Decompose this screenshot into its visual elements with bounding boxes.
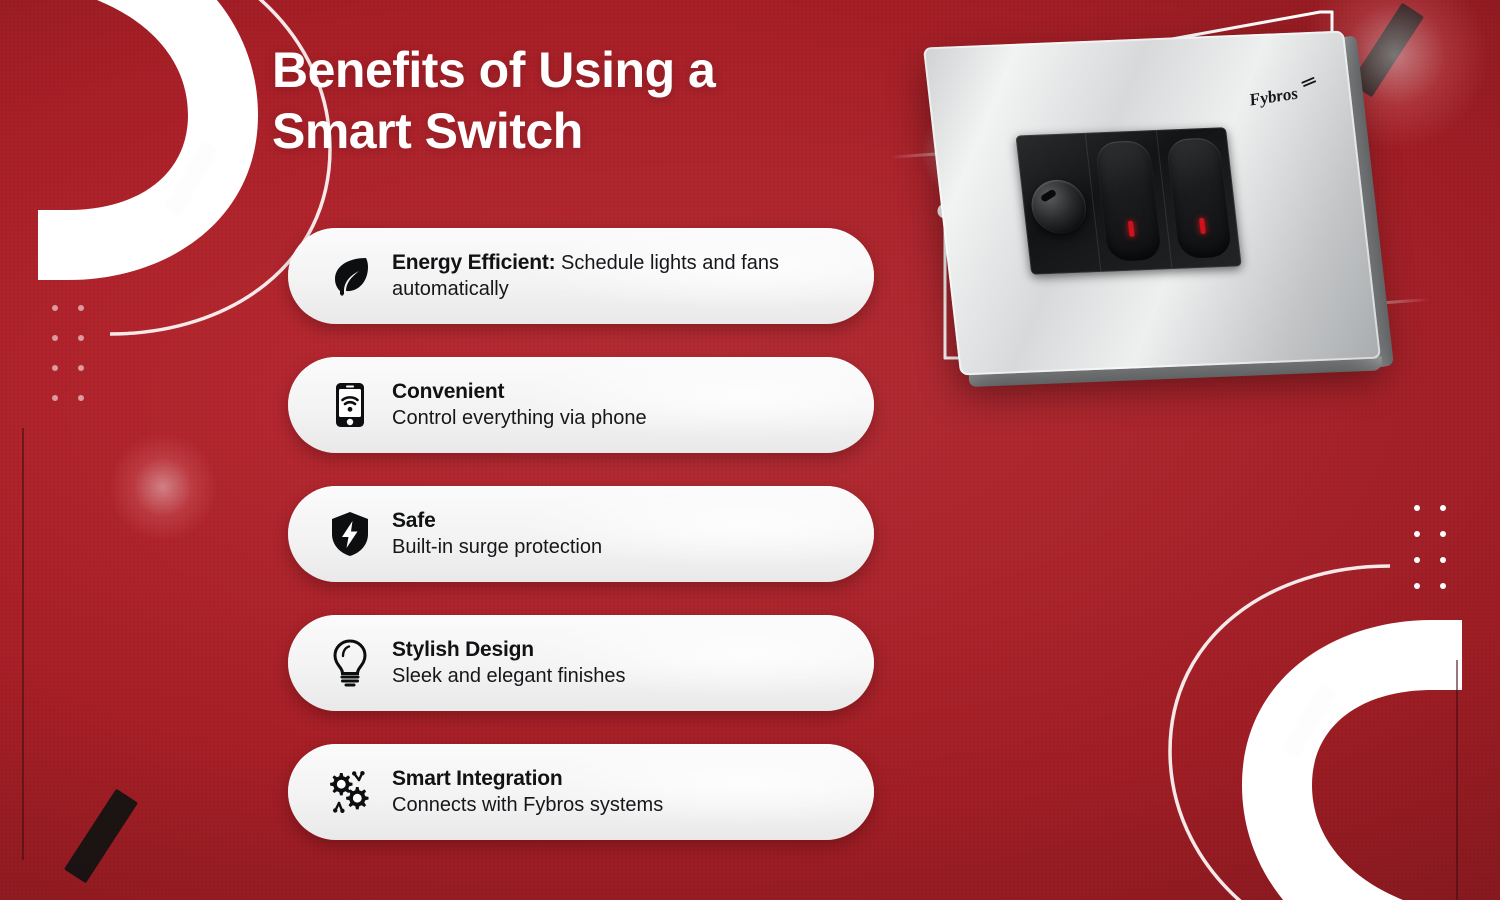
leaf-icon — [314, 240, 386, 312]
benefit-title: Convenient — [392, 379, 647, 406]
benefit-description: Built-in surge protection — [392, 534, 602, 560]
rocker-cell-2[interactable] — [1155, 127, 1241, 269]
benefit-title: Safe — [392, 508, 602, 535]
benefit-title: Energy Efficient: — [392, 251, 555, 274]
switch-plate: Fybros — [923, 31, 1381, 376]
benefit-description: Sleek and elegant finishes — [392, 663, 626, 689]
benefit-description: Connects with Fybros systems — [392, 792, 663, 818]
svg-text:Fybros: Fybros — [1246, 84, 1300, 110]
benefit-title: Smart Integration — [392, 766, 663, 793]
benefit-text: Energy Efficient: Schedule lights and fa… — [386, 250, 846, 303]
rocker-switch-1[interactable] — [1095, 140, 1162, 261]
led-indicator-2 — [1199, 218, 1206, 234]
benefit-card-safe[interactable]: Safe Built-in surge protection — [288, 486, 874, 582]
left-content-column: Benefits of Using a Smart Switch Energy … — [0, 0, 900, 900]
benefit-card-convenient[interactable]: Convenient Control everything via phone — [288, 357, 874, 453]
page-title-line-1: Benefits of Using a — [272, 40, 872, 101]
page-title-line-2: Smart Switch — [272, 101, 872, 162]
phone-wifi-icon — [314, 369, 386, 441]
shield-bolt-icon — [314, 498, 386, 570]
fybros-brand-logo-icon: Fybros — [1244, 75, 1334, 113]
lightbulb-icon — [314, 627, 386, 699]
switch-module — [1015, 127, 1241, 275]
benefit-text: Smart Integration Connects with Fybros s… — [386, 766, 663, 819]
benefit-card-energy-efficient[interactable]: Energy Efficient: Schedule lights and fa… — [288, 228, 874, 324]
led-indicator-1 — [1128, 221, 1135, 237]
dimmer-knob[interactable] — [1028, 179, 1088, 235]
smart-switch-product-image: Fybros — [923, 31, 1381, 376]
benefit-text: Safe Built-in surge protection — [386, 508, 602, 561]
benefit-description: Control everything via phone — [392, 405, 647, 431]
benefit-title: Stylish Design — [392, 637, 626, 664]
benefit-card-smart-integration[interactable]: Smart Integration Connects with Fybros s… — [288, 744, 874, 840]
product-showcase: Fybros — [900, 0, 1500, 900]
rocker-switch-2[interactable] — [1166, 137, 1233, 258]
benefit-text: Stylish Design Sleek and elegant finishe… — [386, 637, 626, 690]
benefit-text: Convenient Control everything via phone — [386, 379, 647, 432]
benefits-list: Energy Efficient: Schedule lights and fa… — [288, 228, 874, 873]
benefit-card-stylish-design[interactable]: Stylish Design Sleek and elegant finishe… — [288, 615, 874, 711]
page-title: Benefits of Using a Smart Switch — [272, 40, 872, 162]
gears-icon — [314, 756, 386, 828]
